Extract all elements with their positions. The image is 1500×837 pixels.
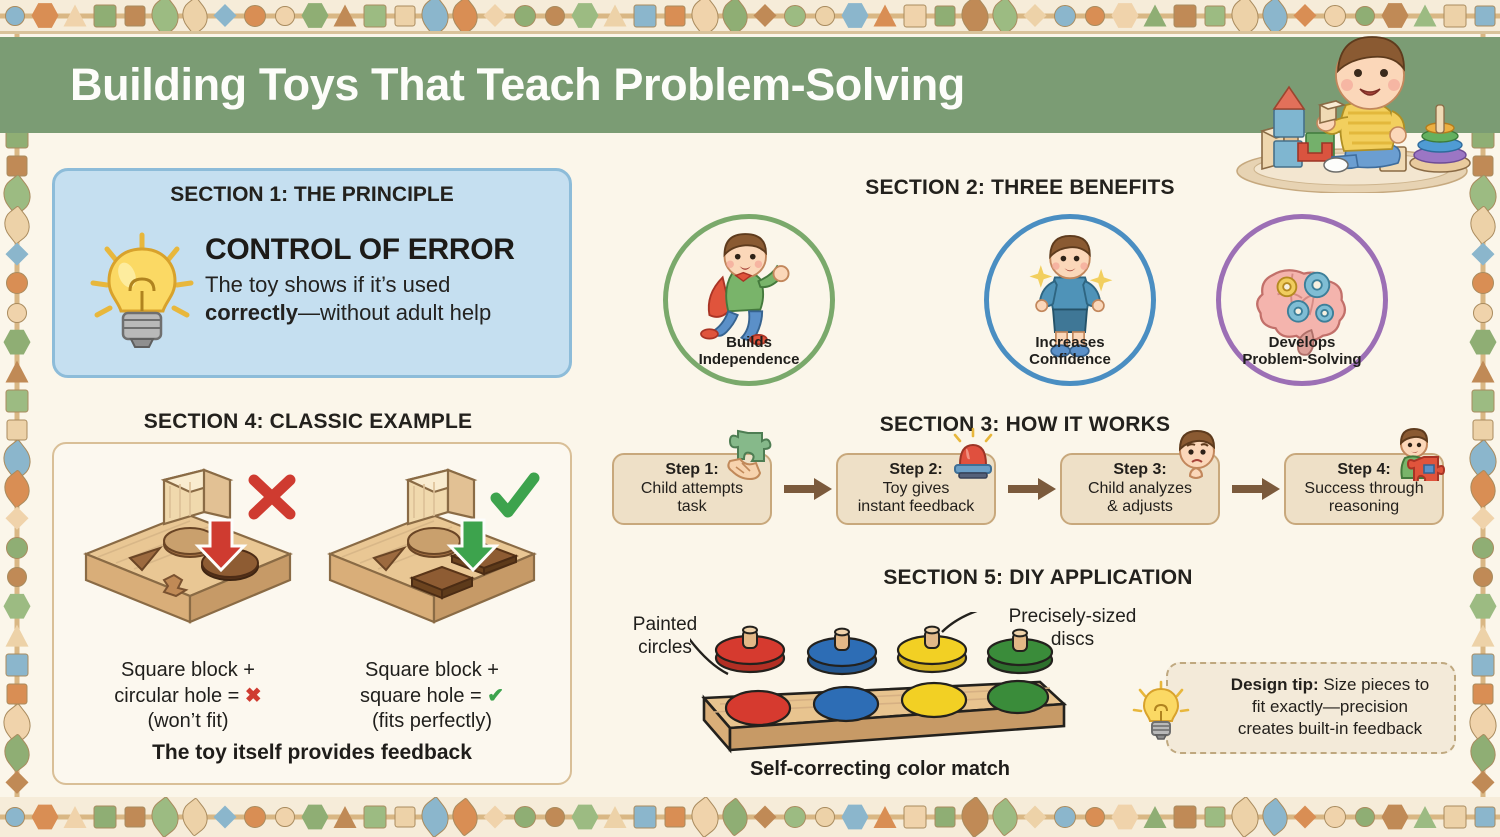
garland-bead <box>1324 806 1346 828</box>
caption-line1: Square block + <box>121 659 255 681</box>
garland-string <box>15 34 20 797</box>
garland-bead <box>665 5 686 26</box>
step-label: Step 3: <box>1113 461 1166 478</box>
step-line2: & adjusts <box>1107 498 1173 515</box>
garland-bead <box>842 804 869 831</box>
garland-bead <box>275 6 295 26</box>
garland-bead <box>213 805 237 829</box>
garland-bead <box>1471 242 1495 266</box>
garland-bead <box>935 807 956 828</box>
section1-desc-bold: correctly <box>205 300 298 325</box>
garland-bead <box>1470 329 1497 356</box>
garland-bead <box>1355 807 1375 827</box>
benefit-card-problem-solving[interactable]: Develops Problem-Solving <box>1216 214 1388 386</box>
thinking-child-icon <box>1170 427 1224 481</box>
garland-bead <box>1205 807 1226 828</box>
happy-child-with-puzzle-icon <box>1394 427 1448 481</box>
garland-bead <box>1475 807 1496 828</box>
garland-bead <box>364 4 387 27</box>
square-block-over-circular-hole-illustration <box>68 462 308 632</box>
garland-bead <box>1471 623 1496 648</box>
section1-desc-line2: —without adult help <box>298 300 491 325</box>
garland-bead <box>0 733 34 773</box>
benefit-label: Builds Independence <box>668 335 830 369</box>
step-label: Step 4: <box>1337 461 1390 478</box>
step-line1: Child analyzes <box>1088 480 1192 497</box>
garland-bead <box>125 5 146 26</box>
garland-bead <box>784 806 806 828</box>
garland-bead <box>6 389 29 412</box>
garland-bead <box>395 5 416 26</box>
garland-bead <box>1470 593 1497 620</box>
step-card-2[interactable]: Step 2: Toy gives instant feedback <box>836 453 996 525</box>
garland-bead <box>5 359 30 384</box>
garland-bead <box>7 567 27 587</box>
garland-bead <box>1472 537 1494 559</box>
garland-bead <box>904 806 927 829</box>
garland-bead <box>1466 205 1500 245</box>
garland-bead <box>1472 389 1495 412</box>
section4-wrong-example: Square block + circular hole = ✖ (won’t … <box>68 462 308 637</box>
garland-bead <box>815 6 835 26</box>
section1-desc-line1: The toy shows if it’s used <box>205 272 450 297</box>
green-check-icon: ✔ <box>487 685 504 707</box>
benefit-card-independence[interactable]: Builds Independence <box>663 214 835 386</box>
garland-bead <box>1085 6 1105 26</box>
flow-arrow-1-icon <box>784 478 832 500</box>
garland-bead <box>545 807 565 827</box>
garland-bead <box>483 805 507 829</box>
garland-bead <box>1174 806 1197 829</box>
garland-bead <box>364 806 387 829</box>
garland-bead <box>1466 733 1500 773</box>
step-card-4[interactable]: Step 4: Success through reasoning <box>1284 453 1444 525</box>
garland-bead <box>7 420 28 441</box>
section5-caption: Self-correcting color match <box>690 758 1070 781</box>
section3-title: SECTION 3: HOW IT WORKS <box>860 413 1190 437</box>
step-line1: Success through <box>1304 480 1423 497</box>
section4-footer: The toy itself provides feedback <box>54 741 570 765</box>
caption-line2: square hole = <box>360 685 487 707</box>
garland-bead <box>753 805 777 829</box>
garland-bead <box>1054 5 1076 27</box>
boy-playing-with-blocks-illustration <box>1202 13 1482 193</box>
garland-bead <box>5 6 25 26</box>
design-tip-line2: fit exactly—precision <box>1252 697 1408 716</box>
garland-bead <box>1473 420 1494 441</box>
garland-bead <box>125 807 146 828</box>
garland-bead <box>1472 653 1495 676</box>
garland-bead <box>0 469 34 509</box>
benefit-label-line2: Independence <box>699 351 800 368</box>
garland-bead <box>634 806 657 829</box>
bottom-border-garland <box>0 797 1500 837</box>
garland-bead <box>514 5 536 27</box>
benefit-label: Increases Confidence <box>989 335 1151 369</box>
section4-right-caption: Square block + square hole = ✔ (fits per… <box>312 658 552 735</box>
garland-bead <box>665 807 686 828</box>
garland-bead <box>4 329 31 356</box>
callout-line1: Painted <box>633 614 697 635</box>
section1-description: The toy shows if it’s used correctly—wit… <box>205 271 555 327</box>
garland-bead <box>1023 4 1047 28</box>
infographic-page: Building Toys That Teach Problem-Solving <box>0 0 1500 837</box>
benefit-card-confidence[interactable]: Increases Confidence <box>984 214 1156 386</box>
garland-bead <box>1473 684 1494 705</box>
callout-line2: circles <box>638 637 692 658</box>
garland-bead <box>6 653 29 676</box>
garland-bead <box>213 4 237 28</box>
benefit-label-line2: Problem-Solving <box>1242 351 1361 368</box>
hand-with-puzzle-piece-icon <box>722 427 776 481</box>
garland-bead <box>1023 805 1047 829</box>
left-border-garland <box>0 34 34 797</box>
flow-arrow-2-icon <box>1008 478 1056 500</box>
garland-bead <box>0 205 34 245</box>
garland-bead <box>815 807 835 827</box>
caption-line2: circular hole = <box>114 685 245 707</box>
garland-bead <box>1472 272 1494 294</box>
garland-bead <box>753 4 777 28</box>
step-label: Step 2: <box>889 461 942 478</box>
benefit-label-line1: Builds <box>726 334 772 351</box>
garland-bead <box>1112 804 1139 831</box>
page-title: Building Toys That Teach Problem-Solving <box>70 59 965 111</box>
garland-bead <box>1471 506 1495 530</box>
garland-bead <box>4 593 31 620</box>
garland-bead <box>545 6 565 26</box>
section4-right-example: Square block + square hole = ✔ (fits per… <box>312 462 552 637</box>
garland-bead <box>1174 4 1197 27</box>
caption-line3: (fits perfectly) <box>372 710 492 732</box>
lightbulb-icon <box>1132 680 1190 742</box>
garland-bead <box>94 4 117 27</box>
garland-bead <box>6 537 28 559</box>
garland-bead <box>1471 359 1496 384</box>
section4-wrong-caption: Square block + circular hole = ✖ (won’t … <box>68 658 308 735</box>
step-label: Step 1: <box>665 461 718 478</box>
step-line1: Child attempts <box>641 480 743 497</box>
garland-bead <box>784 5 806 27</box>
step-line2: task <box>677 498 706 515</box>
garland-bead <box>572 804 599 831</box>
garland-bead <box>5 623 30 648</box>
benefit-label-line1: Develops <box>1269 334 1336 351</box>
garland-bead <box>1382 804 1409 831</box>
garland-bead <box>483 4 507 28</box>
wooden-tray-with-colored-discs <box>690 612 1070 772</box>
square-block-over-square-hole-illustration <box>312 462 552 632</box>
design-tip-line1: Size pieces to <box>1319 675 1430 694</box>
step-line1: Toy gives <box>883 480 950 497</box>
garland-bead <box>32 804 59 831</box>
step-line2: reasoning <box>1329 498 1399 515</box>
caption-line1: Square block + <box>365 659 499 681</box>
garland-bead <box>1054 806 1076 828</box>
section1-card: SECTION 1: THE PRINCIPLE CONTROL OF ERRO… <box>52 168 572 378</box>
garland-bead <box>5 770 29 794</box>
benefit-label-line2: Confidence <box>1029 351 1111 368</box>
garland-bead <box>6 272 28 294</box>
step-line2: instant feedback <box>858 498 975 515</box>
garland-bead <box>5 807 25 827</box>
alarm-light-icon <box>946 427 1000 481</box>
section1-title: SECTION 1: THE PRINCIPLE <box>55 183 569 207</box>
benefit-label: Develops Problem-Solving <box>1221 335 1383 369</box>
header-banner: Building Toys That Teach Problem-Solving <box>0 37 1500 133</box>
garland-bead <box>1471 770 1495 794</box>
garland-bead <box>7 303 27 323</box>
garland-bead <box>1466 469 1500 509</box>
garland-bead <box>842 2 869 29</box>
caption-line3: (won’t fit) <box>147 710 228 732</box>
design-tip-text: Design tip: Size pieces to fit exactly—p… <box>1212 674 1448 740</box>
garland-bead <box>904 4 927 27</box>
benefit-label-line1: Increases <box>1035 334 1104 351</box>
design-tip-line3: creates built-in feedback <box>1238 719 1422 738</box>
design-tip-box: Design tip: Size pieces to fit exactly—p… <box>1166 662 1456 754</box>
garland-bead <box>1444 806 1467 829</box>
garland-bead <box>7 684 28 705</box>
section1-kicker: CONTROL OF ERROR <box>205 233 555 267</box>
section2-title: SECTION 2: THREE BENEFITS <box>790 176 1250 200</box>
section5-title: SECTION 5: DIY APPLICATION <box>868 566 1208 590</box>
garland-bead <box>935 5 956 26</box>
garland-bead <box>1473 567 1493 587</box>
garland-bead <box>572 2 599 29</box>
section1-body: CONTROL OF ERROR The toy shows if it’s u… <box>205 233 555 327</box>
garland-bead <box>302 2 329 29</box>
garland-bead <box>1293 805 1317 829</box>
garland-bead <box>94 806 117 829</box>
garland-bead <box>5 242 29 266</box>
section4-panel: Square block + circular hole = ✖ (won’t … <box>52 442 572 785</box>
garland-bead <box>244 806 266 828</box>
step-card-3[interactable]: Step 3: Child analyzes & adjusts <box>1060 453 1220 525</box>
flow-arrow-3-icon <box>1232 478 1280 500</box>
step-card-1[interactable]: Step 1: Child attempts task <box>612 453 772 525</box>
garland-bead <box>32 2 59 29</box>
garland-bead <box>395 807 416 828</box>
garland-bead <box>244 5 266 27</box>
garland-bead <box>275 807 295 827</box>
garland-bead <box>302 804 329 831</box>
garland-bead <box>1112 2 1139 29</box>
red-x-icon: ✖ <box>245 685 262 707</box>
design-tip-label: Design tip: <box>1231 675 1319 694</box>
garland-bead <box>1473 303 1493 323</box>
garland-bead <box>5 506 29 530</box>
garland-bead <box>1085 807 1105 827</box>
garland-bead <box>514 806 536 828</box>
lightbulb-icon <box>83 229 201 359</box>
garland-bead <box>634 4 657 27</box>
section4-title: SECTION 4: CLASSIC EXAMPLE <box>128 410 488 434</box>
